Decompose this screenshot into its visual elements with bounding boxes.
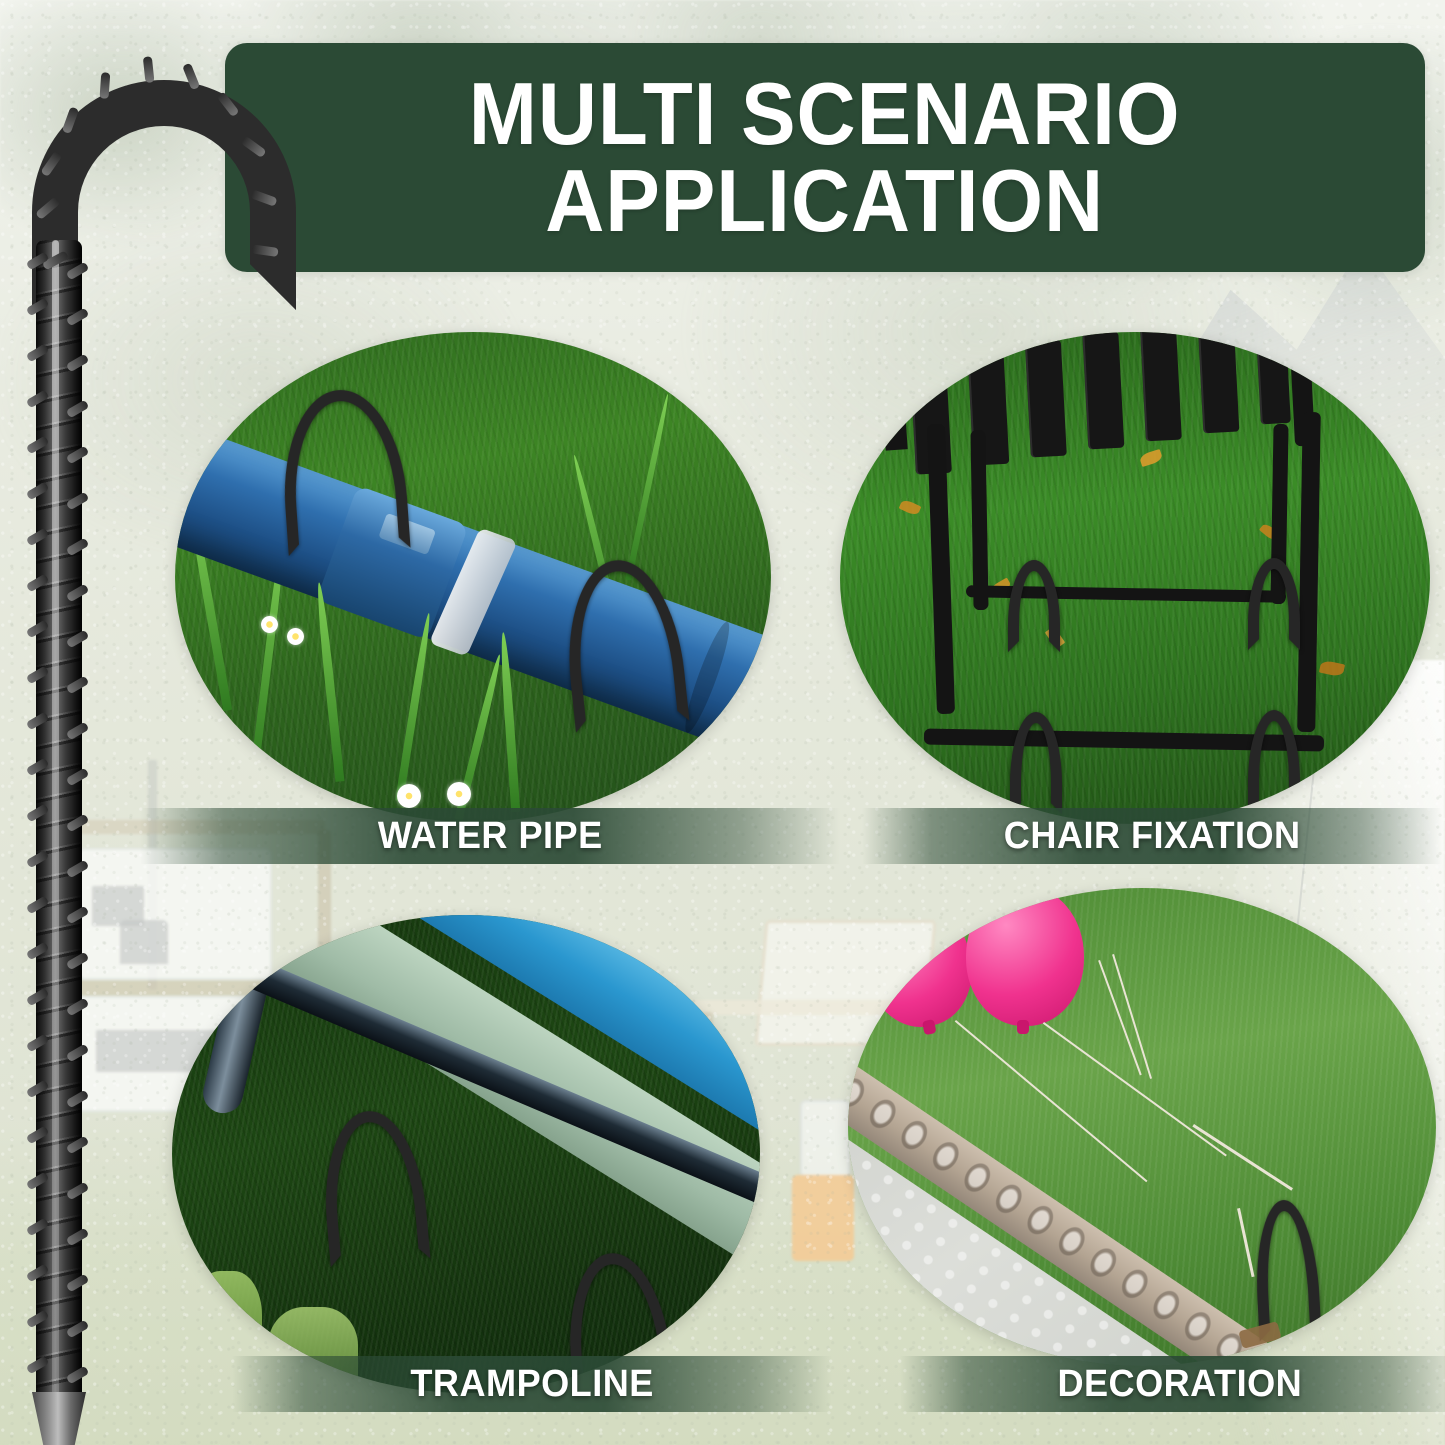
stake-highlight — [52, 240, 59, 1412]
bench-slat — [1197, 332, 1239, 433]
bench-slat — [1140, 332, 1182, 441]
rebar-stake-product — [8, 62, 308, 1442]
product-feature-image: MULTI SCENARIO APPLICATION — [0, 0, 1445, 1445]
daisy-flower — [397, 784, 421, 808]
balloon-right — [966, 888, 1084, 1026]
header-banner: MULTI SCENARIO APPLICATION — [225, 43, 1425, 272]
photo-decoration — [848, 888, 1436, 1366]
bench-leg-back-left — [970, 430, 988, 610]
rib-spur — [100, 72, 111, 99]
bench-slat — [1255, 332, 1291, 424]
banner-title-line2: APPLICATION — [469, 158, 1181, 244]
banner-title: MULTI SCENARIO APPLICATION — [469, 71, 1181, 243]
banner-title-line1: MULTI SCENARIO — [469, 64, 1181, 163]
bench-slat — [1082, 332, 1124, 449]
daisy-flower — [447, 782, 471, 806]
photo-chair-fixation — [840, 332, 1430, 824]
stake-point-tip — [32, 1392, 86, 1445]
bench-slat — [1025, 340, 1067, 458]
